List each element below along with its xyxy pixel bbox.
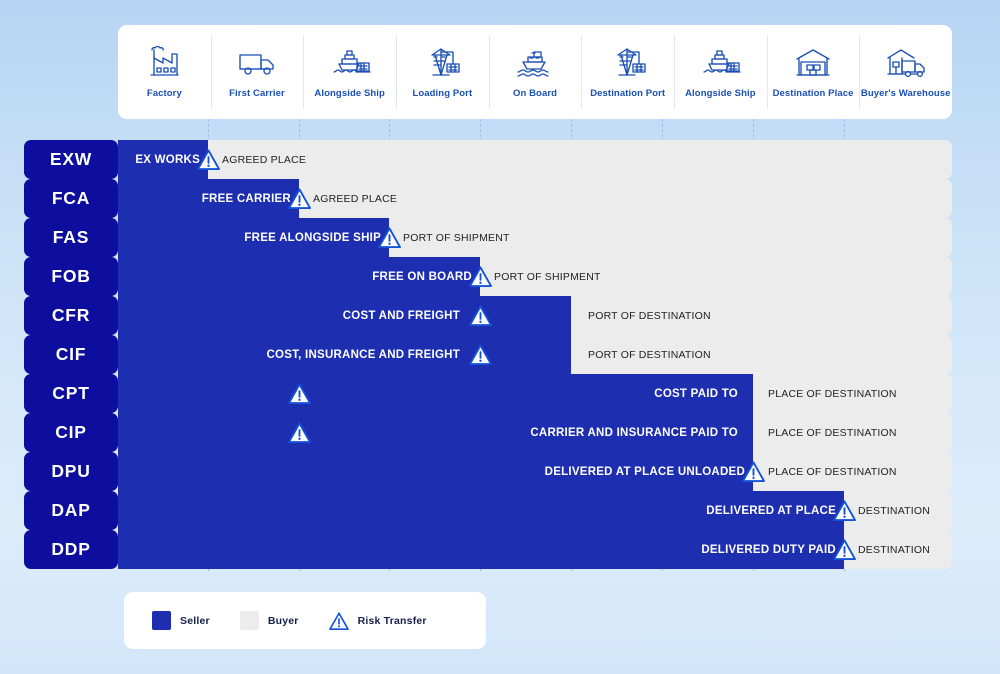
seller-term-label: DELIVERED AT PLACE UNLOADED [545,452,745,491]
seller-term-label: COST, INSURANCE AND FREIGHT [266,335,460,374]
truck-icon [234,38,280,84]
milestone-column-buyer-s-warehouse: Buyer's Warehouse [859,25,952,119]
milestone-header-bar: FactoryFirst CarrierAlongside ShipLoadin… [118,25,952,119]
incoterm-code-cif[interactable]: CIF [24,335,118,374]
seller-term-label: DELIVERED DUTY PAID [701,530,836,569]
risk-transfer-icon [833,500,856,521]
risk-transfer-icon [378,227,401,248]
buyer-place-label: PLACE OF DESTINATION [768,374,897,413]
responsibility-track: DELIVERED DUTY PAIDDESTINATION [118,530,952,569]
warehouse-icon [791,38,835,84]
buyer-place-label: DESTINATION [858,491,930,530]
risk-transfer-icon [197,149,220,170]
incoterm-row: DDPDELIVERED DUTY PAIDDESTINATION [0,530,1000,569]
ship-alongside-dock-icon [697,38,743,84]
responsibility-track: CARRIER AND INSURANCE PAID TOPLACE OF DE… [118,413,952,452]
buyer-place-label: PLACE OF DESTINATION [768,413,897,452]
milestone-label: Alongside Ship [685,88,756,99]
responsibility-track: FREE CARRIERAGREED PLACE [118,179,952,218]
buyer-swatch [240,611,259,630]
seller-term-label: CARRIER AND INSURANCE PAID TO [530,413,738,452]
incoterm-code-cpt[interactable]: CPT [24,374,118,413]
buyer-place-label: DESTINATION [858,530,930,569]
incoterm-code-cfr[interactable]: CFR [24,296,118,335]
warehouse-truck-icon [882,38,930,84]
buyer-place-label: PORT OF SHIPMENT [403,218,510,257]
milestone-column-factory: Factory [118,25,211,119]
incoterm-row: FOBFREE ON BOARDPORT OF SHIPMENT [0,257,1000,296]
incoterm-row: CIPCARRIER AND INSURANCE PAID TOPLACE OF… [0,413,1000,452]
risk-transfer-icon [833,539,856,560]
crane-container-icon [606,38,650,84]
incoterm-code-exw[interactable]: EXW [24,140,118,179]
incoterms-rows: EXWEX WORKSAGREED PLACEFCAFREE CARRIERAG… [0,140,1000,569]
risk-transfer-icon [288,383,311,404]
seller-term-label: FREE ON BOARD [372,257,472,296]
incoterm-row: CIFCOST, INSURANCE AND FREIGHTPORT OF DE… [0,335,1000,374]
risk-transfer-icon [742,461,765,482]
incoterm-code-fob[interactable]: FOB [24,257,118,296]
legend-label: Seller [180,615,210,627]
milestone-column-alongside-ship: Alongside Ship [674,25,767,119]
risk-transfer-icon [469,344,492,365]
milestone-column-loading-port: Loading Port [396,25,489,119]
buyer-place-label: AGREED PLACE [222,140,306,179]
milestone-column-first-carrier: First Carrier [211,25,304,119]
seller-term-label: FREE CARRIER [202,179,291,218]
milestone-label: First Carrier [229,88,285,99]
ship-alongside-dock-icon [327,38,373,84]
legend-item: Seller [152,611,210,630]
milestone-label: Buyer's Warehouse [861,88,951,99]
incoterm-code-dpu[interactable]: DPU [24,452,118,491]
seller-term-label: EX WORKS [135,140,200,179]
risk-transfer-icon [329,612,349,630]
seller-swatch [152,611,171,630]
risk-transfer-icon [288,188,311,209]
legend-item: Buyer [240,611,299,630]
responsibility-track: FREE ON BOARDPORT OF SHIPMENT [118,257,952,296]
chart-legend: SellerBuyerRisk Transfer [124,592,486,649]
risk-transfer-icon [288,422,311,443]
responsibility-track: COST AND FREIGHTPORT OF DESTINATION [118,296,952,335]
incoterm-row: FCAFREE CARRIERAGREED PLACE [0,179,1000,218]
buyer-place-label: PORT OF DESTINATION [588,335,711,374]
buyer-place-label: AGREED PLACE [313,179,397,218]
buyer-place-label: PLACE OF DESTINATION [768,452,897,491]
responsibility-track: COST PAID TOPLACE OF DESTINATION [118,374,952,413]
milestone-label: Alongside Ship [314,88,385,99]
incoterm-row: DAPDELIVERED AT PLACEDESTINATION [0,491,1000,530]
legend-label: Risk Transfer [358,615,427,627]
buyer-place-label: PORT OF SHIPMENT [494,257,601,296]
factory-icon [142,38,186,84]
responsibility-track: DELIVERED AT PLACEDESTINATION [118,491,952,530]
responsibility-track: FREE ALONGSIDE SHIPPORT OF SHIPMENT [118,218,952,257]
seller-term-label: DELIVERED AT PLACE [706,491,836,530]
risk-transfer-icon [469,305,492,326]
responsibility-track: DELIVERED AT PLACE UNLOADEDPLACE OF DEST… [118,452,952,491]
incoterm-code-cip[interactable]: CIP [24,413,118,452]
legend-item: Risk Transfer [329,612,427,630]
milestone-label: On Board [513,88,557,99]
responsibility-track: EX WORKSAGREED PLACE [118,140,952,179]
incoterm-code-ddp[interactable]: DDP [24,530,118,569]
milestone-label: Factory [147,88,182,99]
incoterm-code-fca[interactable]: FCA [24,179,118,218]
buyer-place-label: PORT OF DESTINATION [588,296,711,335]
seller-term-label: COST AND FREIGHT [343,296,460,335]
responsibility-track: COST, INSURANCE AND FREIGHTPORT OF DESTI… [118,335,952,374]
incoterm-row: DPUDELIVERED AT PLACE UNLOADEDPLACE OF D… [0,452,1000,491]
incoterm-row: CPTCOST PAID TOPLACE OF DESTINATION [0,374,1000,413]
milestone-column-alongside-ship: Alongside Ship [303,25,396,119]
milestone-label: Destination Place [773,88,854,99]
milestone-column-destination-place: Destination Place [767,25,860,119]
milestone-label: Loading Port [412,88,472,99]
risk-transfer-icon [469,266,492,287]
ship-on-water-icon [512,38,558,84]
incoterm-row: EXWEX WORKSAGREED PLACE [0,140,1000,179]
seller-term-label: FREE ALONGSIDE SHIP [244,218,381,257]
milestone-column-destination-port: Destination Port [581,25,674,119]
milestone-label: Destination Port [590,88,665,99]
incoterm-code-fas[interactable]: FAS [24,218,118,257]
incoterm-code-dap[interactable]: DAP [24,491,118,530]
crane-container-icon [420,38,464,84]
milestone-column-on-board: On Board [489,25,582,119]
seller-term-label: COST PAID TO [654,374,738,413]
legend-label: Buyer [268,615,299,627]
incoterm-row: FASFREE ALONGSIDE SHIPPORT OF SHIPMENT [0,218,1000,257]
incoterm-row: CFRCOST AND FREIGHTPORT OF DESTINATION [0,296,1000,335]
